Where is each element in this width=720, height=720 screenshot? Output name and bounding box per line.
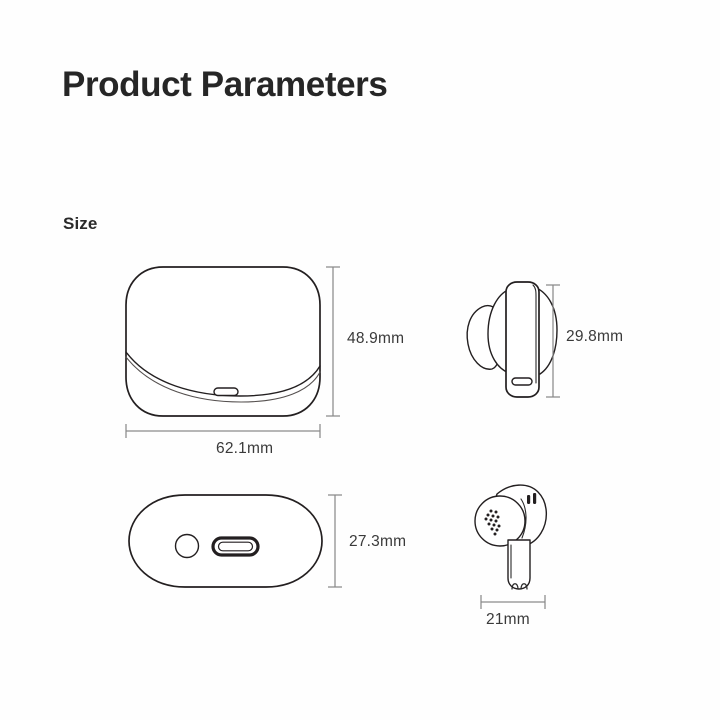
product-parameters-page: Product Parameters Size (0, 0, 720, 720)
size-diagram-illustration (0, 0, 720, 720)
charging-contact-right (521, 584, 527, 589)
dimension-earbud-height (546, 285, 560, 397)
dimension-label-case-depth: 27.3mm (349, 533, 406, 551)
usb-c-port-inner (219, 542, 253, 551)
dimension-case-height (326, 267, 340, 416)
case-led-indicator (214, 388, 238, 396)
earbud-stem (506, 282, 539, 397)
stem-contact-indicator (512, 378, 532, 385)
charging-case-front-view (126, 267, 320, 416)
stem-edge-highlight (533, 285, 536, 383)
nozzle-mesh-grille (485, 510, 501, 536)
dimension-case-width (126, 424, 320, 438)
nozzle-body-seam (521, 499, 526, 538)
dimension-label-earbud-width: 21mm (486, 611, 530, 629)
earbud-body-upper (493, 485, 546, 547)
section-title-size: Size (63, 214, 97, 234)
dimension-earbud-width (481, 595, 545, 609)
earbud-nozzle-face (475, 496, 525, 546)
charging-case-bottom-view (129, 495, 322, 587)
ear-tip (467, 306, 500, 370)
earbud-angled-view (475, 485, 546, 589)
vent-slot-left (527, 495, 530, 504)
driver-housing (488, 286, 557, 374)
case-lid-seam-inner (126, 357, 320, 402)
case-bottom-outline (129, 495, 322, 587)
usb-c-port-outer (213, 538, 258, 555)
dimension-label-case-height: 48.9mm (347, 330, 404, 348)
earbud-side-view (467, 282, 557, 397)
dimension-label-case-width: 62.1mm (216, 440, 273, 458)
dimension-label-earbud-height: 29.8mm (566, 328, 623, 346)
case-body-outline (126, 267, 320, 416)
case-lid-seam (126, 352, 320, 396)
earbud-angled-stem (508, 540, 530, 589)
vent-slot-right (533, 493, 536, 504)
reset-button (176, 535, 199, 558)
charging-contact-left (512, 584, 518, 589)
dimension-case-depth (328, 495, 342, 587)
page-title: Product Parameters (62, 66, 387, 105)
